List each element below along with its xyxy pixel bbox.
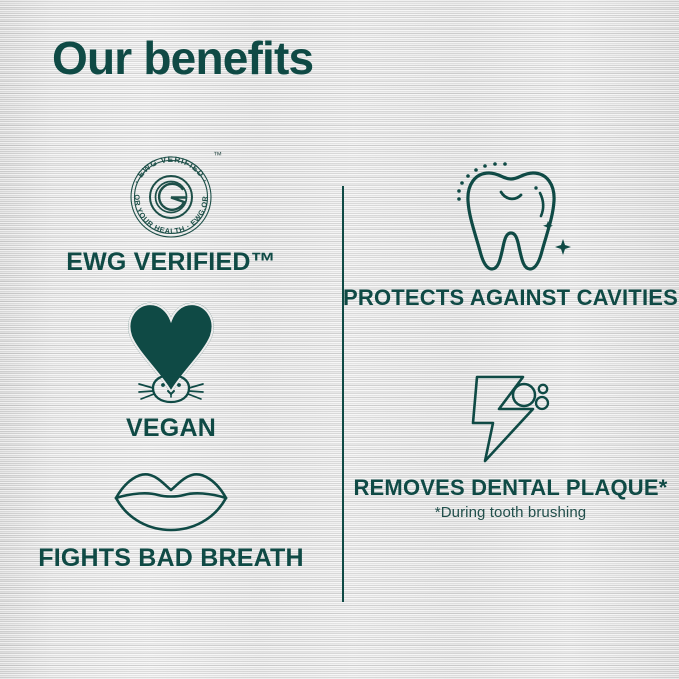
benefit-item-ewg-verified: · EWG VERIFIED · · FOR YOUR HEALTH · EWG… — [0, 142, 342, 277]
benefit-label-removes-dental-plaque: REMOVES DENTAL PLAQUE* — [342, 475, 679, 500]
benefit-label-ewg-verified: EWG VERIFIED™ — [0, 248, 342, 277]
benefit-item-fights-bad-breath: FIGHTS BAD BREATH — [0, 462, 342, 573]
lips-icon — [0, 462, 342, 534]
sparkling-tooth-icon — [342, 155, 679, 275]
benefit-item-vegan: VEGAN — [0, 296, 342, 443]
benefit-item-removes-dental-plaque: REMOVES DENTAL PLAQUE* *During tooth bru… — [342, 365, 679, 521]
vegan-bunny-heart-icon — [0, 296, 342, 404]
benefits-column-left: · EWG VERIFIED · · FOR YOUR HEALTH · EWG… — [0, 0, 342, 679]
benefit-label-fights-bad-breath: FIGHTS BAD BREATH — [0, 544, 342, 573]
benefit-label-protects-against-cavities: PROTECTS AGAINST CAVITIES — [342, 285, 679, 310]
ewg-verified-badge-icon: · EWG VERIFIED · · FOR YOUR HEALTH · EWG… — [0, 142, 342, 238]
benefit-item-protects-against-cavities: PROTECTS AGAINST CAVITIES — [342, 155, 679, 310]
lightning-bolt-bubbles-icon — [342, 365, 679, 465]
svg-text:· EWG VERIFIED ·: · EWG VERIFIED · — [132, 155, 210, 185]
benefit-label-vegan: VEGAN — [0, 414, 342, 443]
benefit-note-removes-dental-plaque: *During tooth brushing — [342, 504, 679, 521]
svg-text:™: ™ — [213, 150, 222, 160]
benefits-poster: Our benefits · EWG VERIFIED · — [0, 0, 679, 679]
benefits-column-right: PROTECTS AGAINST CAVITIES REMOVES DENTAL… — [342, 0, 679, 679]
